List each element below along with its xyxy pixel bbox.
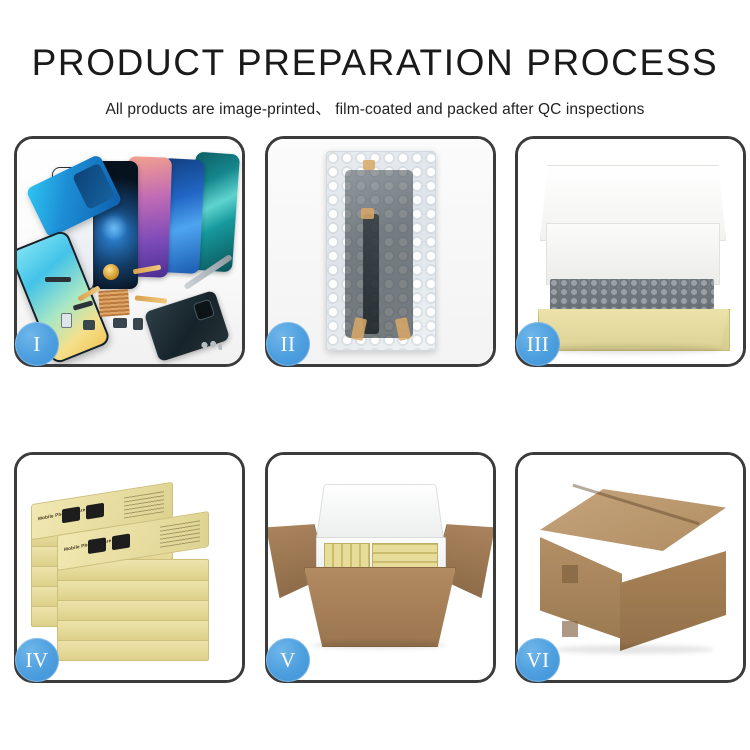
stacked-box — [57, 619, 209, 641]
carton-left-face-icon — [540, 537, 622, 639]
chip-icon-2 — [133, 318, 143, 330]
step-badge-1: I — [15, 322, 59, 366]
bubble-wrap-bag-icon — [326, 151, 436, 351]
box-spec-lines — [160, 519, 200, 547]
box-phone-image-icon — [112, 533, 130, 550]
chip-icon-1 — [113, 318, 127, 328]
box-shadow — [544, 345, 722, 354]
step-badge-4: IV — [15, 638, 59, 682]
product-preparation-page: PRODUCT PREPARATION PROCESS All products… — [0, 0, 750, 750]
stacked-box — [57, 599, 209, 621]
earpiece-bar-icon — [45, 277, 71, 282]
stacked-box — [57, 579, 209, 601]
tape-icon-2 — [361, 208, 374, 219]
foam-sheet-icon — [546, 223, 720, 285]
step-badge-2: II — [266, 322, 310, 366]
speaker-icon — [103, 264, 119, 280]
step-panel-5[interactable]: V — [265, 452, 496, 683]
flex-cable-icon-2 — [135, 295, 167, 303]
stacked-box — [57, 639, 209, 661]
screen-inside-icon — [345, 170, 413, 338]
step-panel-1[interactable]: I — [14, 136, 245, 367]
tape-icon-1 — [363, 160, 375, 170]
carton-top-face-icon — [540, 489, 726, 551]
foam-lid-icon — [316, 484, 445, 542]
step-badge-6: VI — [516, 638, 560, 682]
carton-body-icon — [304, 567, 456, 647]
carton-shadow — [312, 641, 446, 649]
page-title: PRODUCT PREPARATION PROCESS — [0, 44, 750, 81]
flex-cable-inside-icon — [363, 214, 379, 334]
screws-icon — [200, 340, 222, 350]
step-panel-2[interactable]: II — [265, 136, 496, 367]
carton-shadow — [554, 645, 714, 654]
page-header: PRODUCT PREPARATION PROCESS All products… — [0, 0, 750, 119]
process-step-grid: I II — [14, 136, 746, 686]
sim-tray-icon — [61, 313, 72, 328]
box-front-icon — [538, 309, 728, 349]
step-panel-6[interactable]: VI — [515, 452, 746, 683]
page-subtitle: All products are image-printed、 film-coa… — [0, 97, 750, 119]
carton-right-face-icon — [620, 551, 726, 651]
screw-grid-icon — [98, 289, 130, 317]
carton-tape-icon-2 — [562, 621, 578, 637]
step-panel-3[interactable]: III — [515, 136, 746, 367]
box-phone-image-icon — [88, 537, 106, 554]
step-badge-3: III — [516, 322, 560, 366]
step-panel-4[interactable]: Mobile Phone Spare Parts Mo — [14, 452, 245, 683]
step-badge-5: V — [266, 638, 310, 682]
chip-icon-3 — [83, 320, 95, 330]
carton-tape-icon-1 — [562, 565, 578, 583]
box-stack-front: Mobile Phone Spare Parts — [57, 515, 207, 665]
